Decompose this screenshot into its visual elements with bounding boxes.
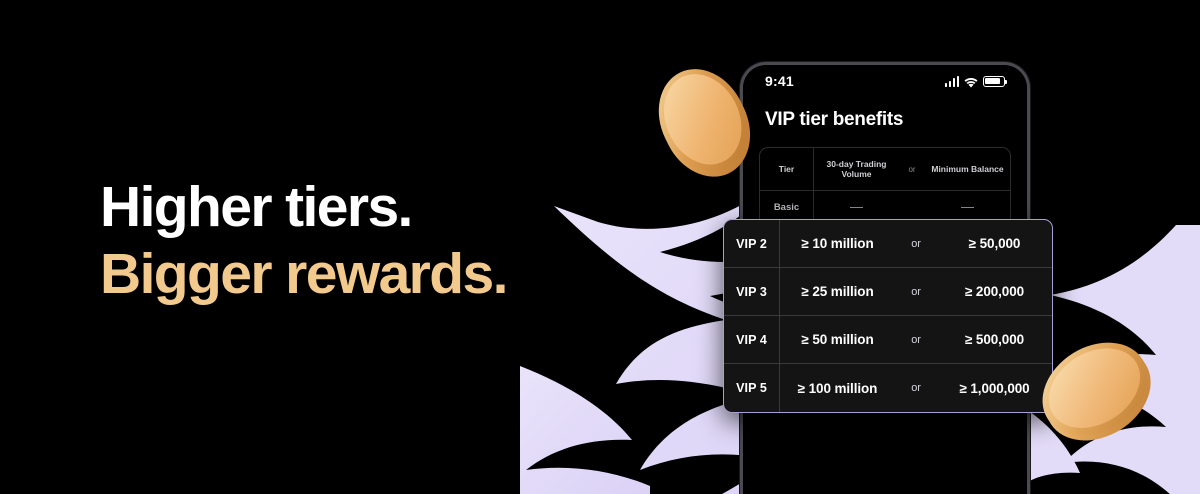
highlighted-tier-card[interactable]: VIP 2 ≥ 10 million or ≥ 50,000 VIP 3 ≥ 2…: [723, 219, 1053, 413]
column-header-or: or: [895, 165, 929, 174]
cell-volume: ≥ 50 million: [780, 332, 895, 347]
cell-or: or: [895, 286, 937, 298]
column-header-balance: Minimum Balance: [929, 164, 1006, 174]
status-bar-time: 9:41: [765, 73, 794, 89]
cell-or: or: [895, 382, 937, 394]
cell-tier: VIP 2: [724, 220, 780, 267]
cell-volume: ≥ 10 million: [780, 236, 895, 251]
dash-icon: [850, 207, 863, 209]
cellular-bars-icon: [945, 76, 960, 87]
table-row[interactable]: VIP 2 ≥ 10 million or ≥ 50,000: [724, 220, 1052, 268]
status-bar: 9:41: [743, 65, 1027, 97]
cell-balance: ≥ 200,000: [937, 284, 1052, 299]
page-title: VIP tier benefits: [743, 97, 1027, 131]
table-row[interactable]: VIP 4 ≥ 50 million or ≥ 500,000: [724, 316, 1052, 364]
table-header-row: Tier 30-day Trading Volume or Minimum Ba…: [760, 148, 1010, 191]
column-header-volume: 30-day Trading Volume: [818, 159, 895, 179]
promo-banner: 9:41 VIP tier benefits Tie: [0, 0, 1200, 494]
cell-balance: ≥ 50,000: [937, 236, 1052, 251]
table-row[interactable]: VIP 3 ≥ 25 million or ≥ 200,000: [724, 268, 1052, 316]
cell-volume: [818, 202, 895, 213]
table-row[interactable]: VIP 5 ≥ 100 million or ≥ 1,000,000: [724, 364, 1052, 412]
cell-or: or: [895, 238, 937, 250]
column-header-tier: Tier: [760, 148, 814, 190]
cell-or: or: [895, 334, 937, 346]
cell-tier: VIP 3: [724, 268, 780, 315]
cell-tier: VIP 5: [724, 364, 780, 412]
cell-balance: ≥ 1,000,000: [937, 381, 1052, 396]
dash-icon: [961, 207, 974, 209]
wifi-icon: [964, 76, 978, 87]
cell-balance: ≥ 500,000: [937, 332, 1052, 347]
cell-volume: ≥ 25 million: [780, 284, 895, 299]
headline: Higher tiers. Bigger rewards.: [100, 174, 507, 309]
cell-tier: VIP 4: [724, 316, 780, 363]
headline-line-1: Higher tiers.: [100, 174, 507, 241]
headline-line-2: Bigger rewards.: [100, 241, 507, 308]
cell-balance: [929, 202, 1006, 213]
cell-volume: ≥ 100 million: [780, 381, 895, 396]
battery-icon: [983, 76, 1005, 87]
status-bar-icons: [945, 76, 1006, 87]
